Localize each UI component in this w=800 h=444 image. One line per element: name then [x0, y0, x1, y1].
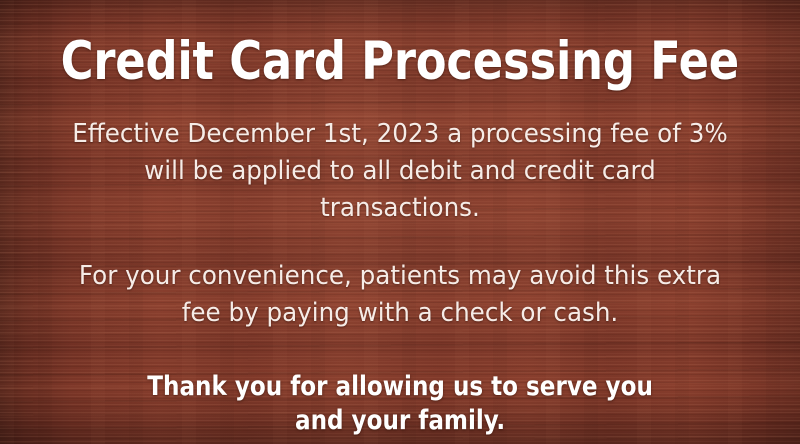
credit-card-fee-notice-poster: Credit Card Processing Fee Effective Dec… — [0, 0, 800, 444]
closing-statement: Thank you for allowing us to serve you a… — [147, 370, 653, 438]
page-title: Credit Card Processing Fee — [61, 34, 739, 90]
payment-alternatives-paragraph: For your convenience, patients may avoid… — [67, 258, 733, 332]
notice-body: Effective December 1st, 2023 a processin… — [36, 116, 764, 438]
fee-policy-paragraph: Effective December 1st, 2023 a processin… — [67, 116, 733, 227]
closing-statement-line-1: Thank you for allowing us to serve you — [147, 370, 653, 404]
closing-statement-line-2: and your family. — [147, 404, 653, 438]
poster-content: Credit Card Processing Fee Effective Dec… — [0, 0, 800, 444]
